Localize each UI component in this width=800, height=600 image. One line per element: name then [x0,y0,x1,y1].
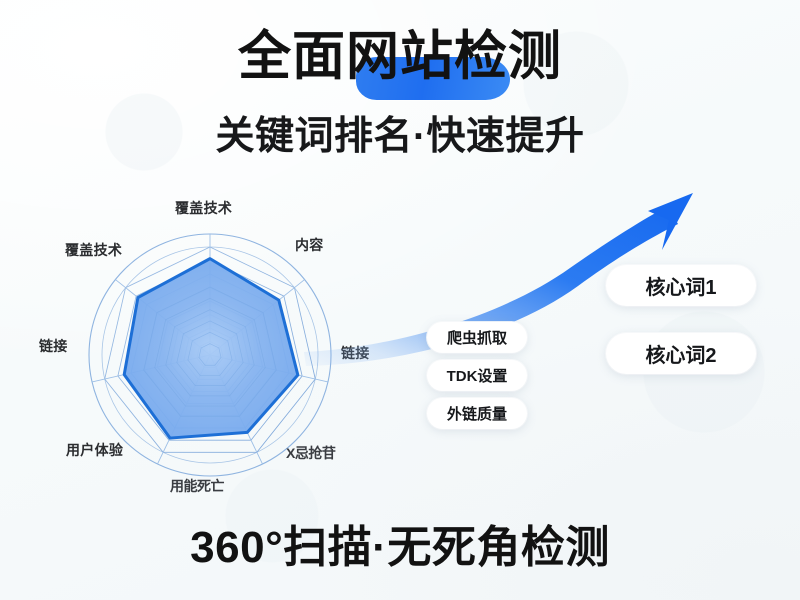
radar-label-coverage-left: 覆盖技术 [65,240,122,260]
radar-data-polygon [124,259,298,438]
radar-chart: 覆盖技术 内容 链接 X忌抢苷 用能死亡 用户体验 链接 覆盖技术 [45,195,385,515]
headline-container: 全面网站检测 [0,30,800,83]
radar-label-garbled-2: 用能死亡 [170,476,224,496]
tag-backlink-quality[interactable]: 外链质量 [427,398,527,429]
radar-label-garbled-1: X忌抢苷 [286,443,335,463]
tag-tdk[interactable]: TDK设置 [427,360,527,391]
footer-tagline: 360°扫描·无死角检测 [0,526,800,570]
radar-label-content: 内容 [295,235,324,255]
radar-label-top: 覆盖技术 [175,198,232,218]
radar-label-ux: 用户体验 [66,440,123,460]
headline-before: 全面 [238,27,346,86]
page-title: 全面网站检测 [238,30,562,83]
page-subtitle: 关键词排名·快速提升 [0,117,800,156]
headline-highlight: 网站 [346,27,454,86]
radar-label-link-right: 链接 [341,343,370,363]
radar-label-link-left: 链接 [39,336,68,356]
tag-crawler[interactable]: 爬虫抓取 [427,322,527,353]
poster-canvas: 全面网站检测 关键词排名·快速提升 [0,0,800,600]
arrow-head [648,193,693,250]
tag-keyword-2[interactable]: 核心词2 [606,333,756,374]
headline-after: 检测 [454,27,562,86]
tag-keyword-1[interactable]: 核心词1 [606,265,756,306]
